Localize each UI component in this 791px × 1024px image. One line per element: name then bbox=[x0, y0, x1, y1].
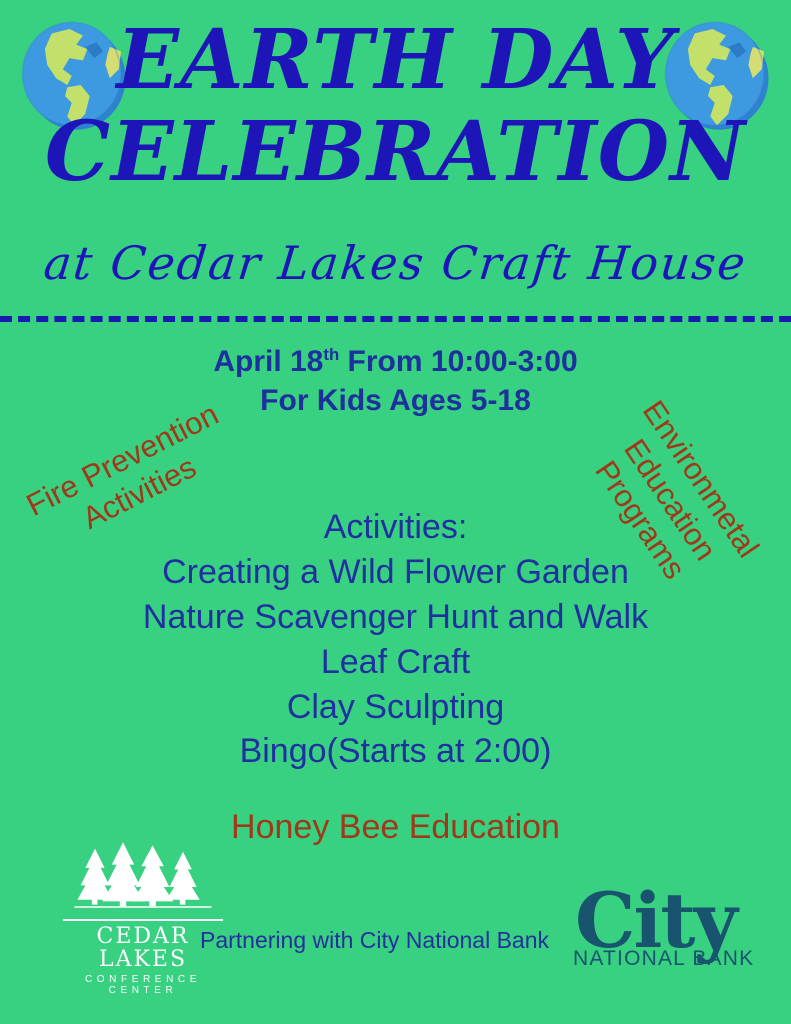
activities-heading: Activities: bbox=[0, 505, 791, 550]
list-item: Creating a Wild Flower Garden bbox=[0, 550, 791, 595]
date-ordinal: th bbox=[323, 345, 339, 364]
event-date: April 18 bbox=[213, 345, 323, 378]
activities-list: Activities: Creating a Wild Flower Garde… bbox=[0, 505, 791, 774]
logo-divider bbox=[63, 919, 223, 921]
title-line-celebration: CELEBRATION bbox=[0, 100, 791, 192]
city-national-bank-logo: City NATIONAL BANK bbox=[571, 888, 771, 992]
title-line-earth-day: EARTH DAY bbox=[0, 14, 791, 100]
cedar-lakes-logo: CEDAR LAKES CONFERENCE CENTER bbox=[48, 840, 238, 996]
venue-subtitle: at Cedar Lakes Craft House bbox=[0, 236, 791, 290]
list-item: Bingo(Starts at 2:00) bbox=[0, 729, 791, 774]
footer: CEDAR LAKES CONFERENCE CENTER Partnering… bbox=[0, 866, 791, 1016]
flyer-canvas: EARTH DAY CELEBRATION at Cedar Lakes Cra… bbox=[0, 0, 791, 1024]
cedar-lakes-subtitle: CONFERENCE CENTER bbox=[48, 974, 238, 996]
list-item: Nature Scavenger Hunt and Walk bbox=[0, 595, 791, 640]
list-item: Clay Sculpting bbox=[0, 685, 791, 730]
event-time: From 10:00-3:00 bbox=[339, 345, 577, 378]
list-item: Leaf Craft bbox=[0, 640, 791, 685]
bank-logo-wordmark: City bbox=[571, 888, 771, 953]
dashed-divider bbox=[0, 316, 791, 322]
page-title: EARTH DAY CELEBRATION bbox=[0, 14, 791, 193]
pine-trees-icon bbox=[63, 840, 223, 918]
partner-text: Partnering with City National Bank bbox=[200, 927, 549, 954]
bank-logo-subtitle: NATIONAL BANK bbox=[571, 947, 771, 971]
event-date-line: April 18th From 10:00-3:00 bbox=[0, 342, 791, 381]
